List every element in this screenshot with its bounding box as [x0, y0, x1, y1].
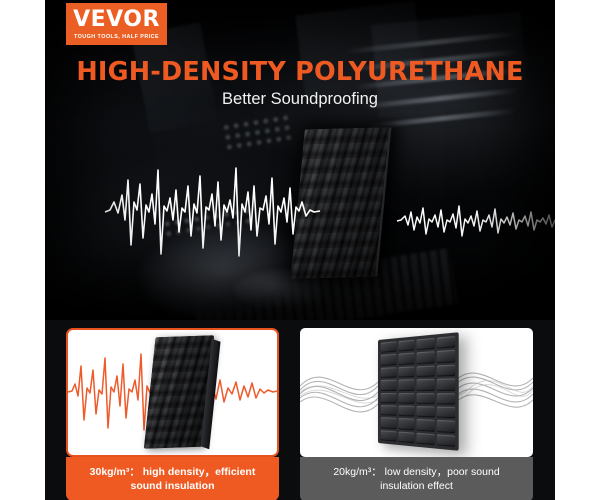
grid-cells — [381, 336, 455, 447]
low-density-caption-text: 20kg/m³： low density，poor sound insulati… — [310, 465, 523, 493]
high-density-caption-bar: 30kg/m³： high density，efficient sound in… — [66, 457, 279, 500]
high-density-panel — [66, 328, 279, 457]
flat-grid-panel — [378, 332, 459, 451]
vevor-logo: VEVOR TOUGH TOOLS, HALF PRICE — [66, 3, 167, 45]
page-title: HIGH-DENSITY POLYURETHANE — [45, 57, 555, 87]
high-density-caption-text: 30kg/m³： high density，efficient sound in… — [74, 465, 271, 493]
hero-waveform-after-icon — [397, 190, 555, 250]
left-white-margin — [0, 0, 45, 320]
logo-tagline: TOUGH TOOLS, HALF PRICE — [74, 34, 159, 40]
product-marketing-banner: VEVOR TOUGH TOOLS, HALF PRICE HIGH-DENSI… — [0, 0, 600, 500]
logo-wordmark: VEVOR — [73, 9, 160, 31]
right-white-margin — [555, 0, 600, 320]
low-density-caption-bar: 20kg/m³： low density，poor sound insulati… — [300, 457, 533, 500]
low-density-panel — [300, 328, 533, 457]
hero-section — [45, 0, 555, 320]
comparison-right-margin — [555, 320, 600, 500]
page-subtitle: Better Soundproofing — [45, 90, 555, 109]
comparison-section: 30kg/m³： high density，efficient sound in… — [0, 320, 600, 500]
hero-waveform-before-icon — [105, 150, 320, 270]
